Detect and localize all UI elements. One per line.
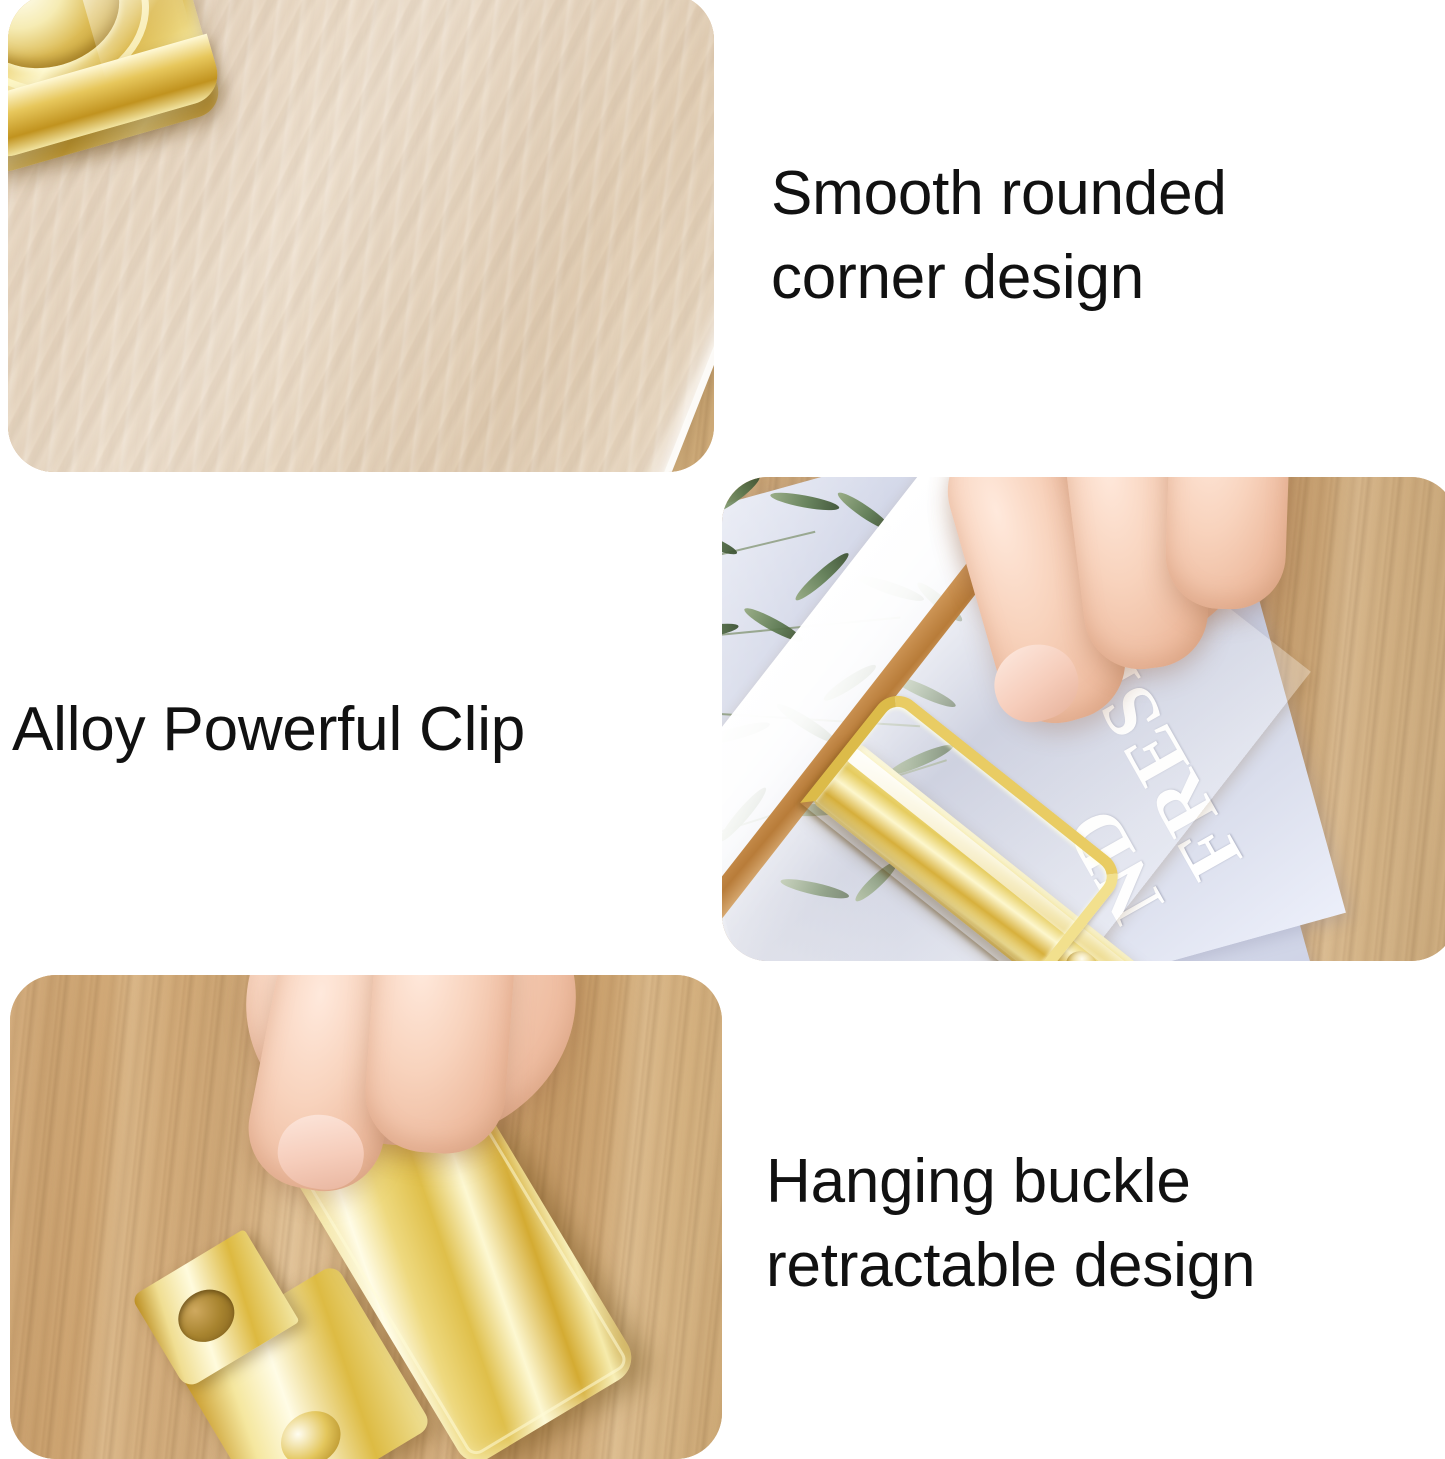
clip-rivet: [271, 1400, 351, 1459]
panel-rounded-corner: [8, 0, 714, 472]
caption-alloy-powerful-clip: Alloy Powerful Clip: [12, 688, 525, 772]
panel-hanging-buckle: [10, 975, 722, 1459]
caption-hanging-buckle-retractable-design: Hanging buckle retractable design: [766, 1140, 1255, 1309]
caption-smooth-rounded-corner-design: Smooth rounded corner design: [771, 152, 1227, 321]
hanging-hole: [169, 1279, 244, 1352]
panel-alloy-clip: ND FRESH: [722, 477, 1445, 961]
